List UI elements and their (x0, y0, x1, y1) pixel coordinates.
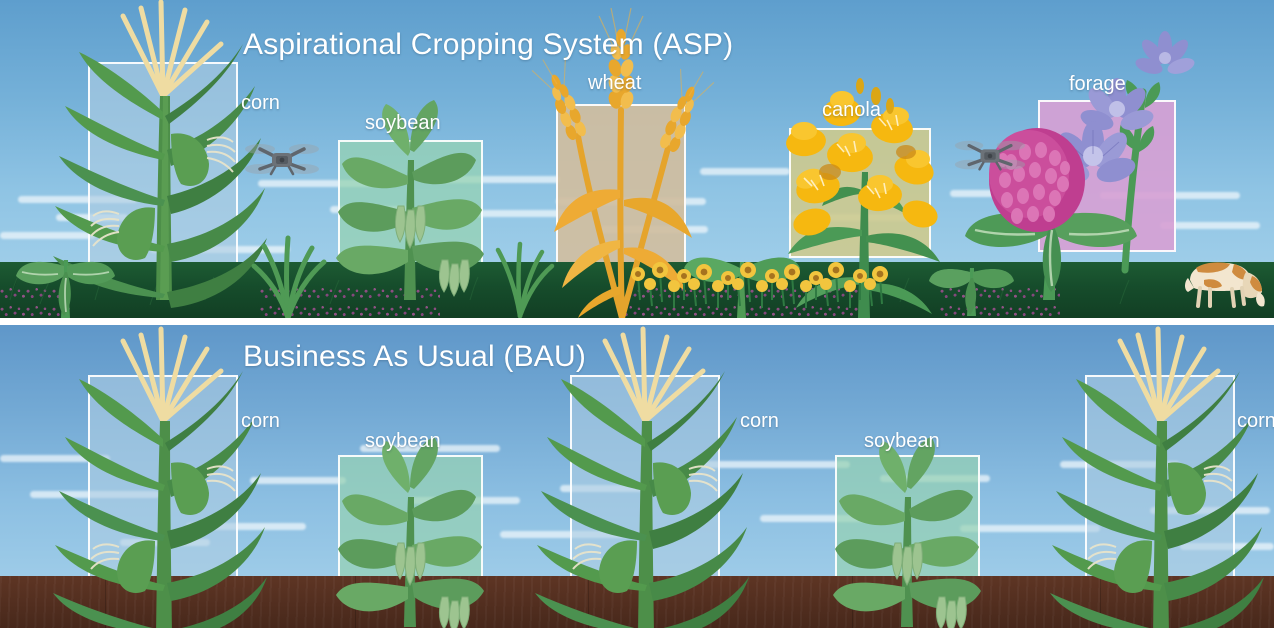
till-line (355, 576, 356, 628)
soil-speckle (620, 284, 860, 318)
panel-divider (0, 318, 1274, 325)
soil-speckle (260, 284, 440, 318)
crop-label-corn: corn (241, 410, 280, 433)
crop-label-wheat: wheat (588, 72, 641, 95)
panel-business-as-usual: Business As Usual (BAU) corn soybean cor… (0, 325, 1274, 628)
crop-label-corn: corn (241, 92, 280, 115)
plot-frame-soybean (338, 140, 483, 272)
till-line (852, 576, 853, 628)
plot-frame-corn (88, 375, 238, 610)
ground-living-cover-asp (0, 262, 1274, 318)
till-line (105, 576, 106, 628)
soil-texture (0, 576, 1274, 628)
soil-speckle (0, 284, 70, 318)
crop-label-corn: corn (1237, 410, 1274, 433)
panel-title-bau: Business As Usual (BAU) (243, 340, 586, 374)
crop-label-soybean: soybean (864, 430, 940, 453)
panel-aspirational-cropping-system: Aspirational Cropping System (ASP) corn … (0, 0, 1274, 318)
till-line (588, 576, 589, 628)
crop-label-corn: corn (740, 410, 779, 433)
plot-frame-forage (1038, 100, 1176, 252)
plot-frame-corn (1085, 375, 1235, 610)
plot-frame-wheat (556, 104, 686, 264)
plot-frame-corn (88, 62, 238, 267)
soil-speckle (940, 284, 1060, 318)
till-line (1100, 576, 1101, 628)
crop-label-forage: forage (1069, 73, 1126, 96)
ground-bare-soil-bau (0, 576, 1274, 628)
crop-label-soybean: soybean (365, 112, 441, 135)
cropping-system-figure: Aspirational Cropping System (ASP) corn … (0, 0, 1274, 628)
plot-frame-canola (789, 128, 931, 258)
plot-frame-corn (570, 375, 720, 610)
panel-title-asp: Aspirational Cropping System (ASP) (243, 28, 733, 62)
crop-label-canola: canola (822, 99, 881, 122)
crop-label-soybean: soybean (365, 430, 441, 453)
